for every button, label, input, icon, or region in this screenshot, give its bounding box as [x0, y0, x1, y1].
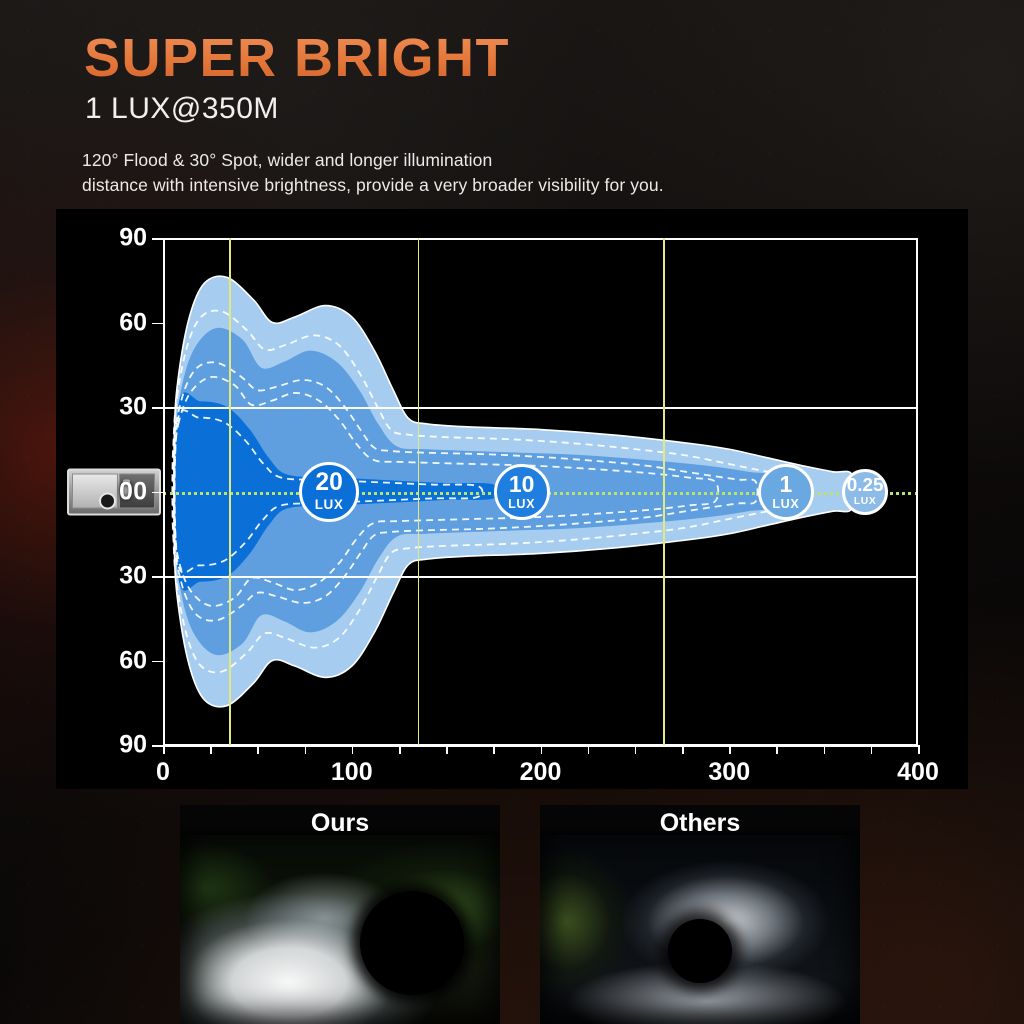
x-minor-tick-225 [588, 745, 590, 754]
lux-unit: LUX [772, 498, 799, 511]
lux-unit: LUX [854, 497, 877, 507]
y-tick--30 [152, 576, 163, 578]
x-axis-label-1: 100 [331, 758, 373, 787]
x-axis-label-2: 200 [520, 758, 562, 787]
x-minor-tick-75 [305, 745, 307, 754]
y-axis-label-1: 60 [119, 646, 147, 675]
y-tick--90 [152, 745, 163, 747]
x-axis-label-4: 400 [897, 758, 939, 787]
lux-unit: LUX [508, 498, 535, 511]
x-minor-tick-25 [210, 745, 212, 754]
page-headline: SUPER BRIGHT [84, 27, 510, 89]
beam-chart-plot-area: 0 9060300306090010020030040020LUX10LUX1L… [163, 238, 918, 745]
comparison-photo-ours: Ours [180, 805, 500, 1024]
lux-bubble-0-25: 0.25LUX [842, 469, 888, 515]
x-minor-tick-375 [871, 745, 873, 754]
gridline-h-30 [163, 407, 918, 409]
x-minor-tick-50 [257, 745, 259, 754]
x-minor-tick-250 [635, 745, 637, 754]
x-axis-label-3: 300 [708, 758, 750, 787]
gridline-v-35 [229, 238, 231, 745]
vehicle-wheel [99, 492, 116, 509]
x-minor-tick-200 [541, 745, 543, 754]
lux-value: 10 [509, 473, 535, 496]
lux-bubble-20: 20LUX [299, 462, 359, 522]
y-tick-30 [152, 407, 163, 409]
x-minor-tick-325 [776, 745, 778, 754]
y-axis-label-6: 90 [119, 224, 147, 253]
gridline-v-135 [418, 238, 420, 745]
y-tick-90 [152, 238, 163, 240]
origin-label: 0 [119, 477, 133, 506]
x-minor-tick-150 [446, 745, 448, 754]
lux-bubble-10: 10LUX [494, 464, 550, 520]
ours-redaction-dot [360, 891, 464, 995]
lux-value: 20 [315, 471, 342, 496]
x-axis-label-0: 0 [156, 758, 170, 787]
y-axis-label-4: 30 [119, 393, 147, 422]
ours-caption: Ours [180, 805, 500, 841]
x-minor-tick-100 [352, 745, 354, 754]
page-subheadline: 1 LUX@350M [85, 92, 279, 126]
lux-unit: LUX [315, 498, 344, 512]
x-minor-tick-400 [918, 745, 920, 754]
lux-value: 1 [779, 473, 792, 496]
x-minor-tick-175 [493, 745, 495, 754]
y-axis-label-5: 60 [119, 308, 147, 337]
x-minor-tick-275 [682, 745, 684, 754]
y-tick--60 [152, 661, 163, 663]
description-line-2: distance with intensive brightness, prov… [82, 173, 664, 198]
y-tick-60 [152, 323, 163, 325]
y-axis-label-0: 90 [119, 731, 147, 760]
beam-pattern-chart-panel: 0 9060300306090010020030040020LUX10LUX1L… [56, 209, 968, 789]
gridline-h-90 [163, 238, 918, 240]
description-line-1: 120° Flood & 30° Spot, wider and longer … [82, 148, 664, 173]
y-tick-0 [152, 492, 163, 494]
y-axis-label-2: 30 [119, 562, 147, 591]
plot-right-border [916, 238, 918, 745]
gridline-h--30 [163, 576, 918, 578]
y-axis-line [163, 238, 165, 745]
x-minor-tick-125 [399, 745, 401, 754]
x-minor-tick-0 [163, 745, 165, 754]
page-description: 120° Flood & 30° Spot, wider and longer … [82, 148, 664, 198]
x-minor-tick-350 [824, 745, 826, 754]
comparison-photo-others: Others [540, 805, 860, 1024]
y-axis-label-3: 0 [133, 477, 147, 506]
lux-value: 0.25 [847, 476, 884, 495]
others-caption: Others [540, 805, 860, 841]
others-redaction-dot [668, 919, 732, 983]
x-minor-tick-300 [729, 745, 731, 754]
gridline-v-265 [663, 238, 665, 745]
lux-bubble-1: 1LUX [758, 464, 814, 520]
